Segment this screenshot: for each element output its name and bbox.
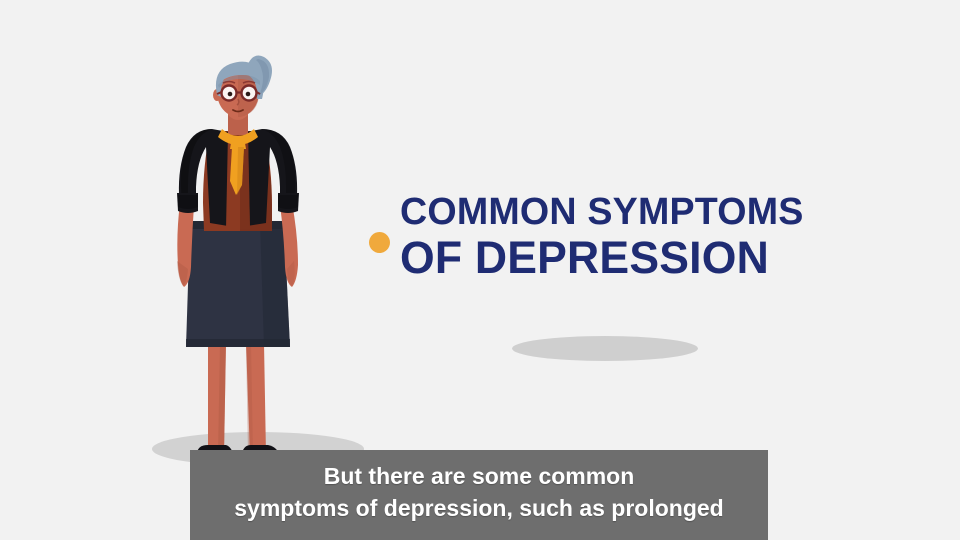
title-line-2: OF DEPRESSION bbox=[400, 234, 836, 282]
subtitle-bar: But there are some common symptoms of de… bbox=[190, 450, 768, 540]
subtitle-line-1: But there are some common bbox=[324, 460, 635, 492]
orange-bullet-dot bbox=[369, 232, 390, 253]
slide-title: COMMON SYMPTOMS OF DEPRESSION bbox=[400, 192, 840, 282]
title-line-1: COMMON SYMPTOMS bbox=[400, 192, 836, 232]
elderly-woman-illustration bbox=[150, 55, 340, 475]
video-frame: COMMON SYMPTOMS OF DEPRESSION But there … bbox=[0, 0, 960, 540]
subtitle-line-2: symptoms of depression, such as prolonge… bbox=[234, 492, 723, 524]
placeholder-ellipse bbox=[512, 336, 698, 361]
